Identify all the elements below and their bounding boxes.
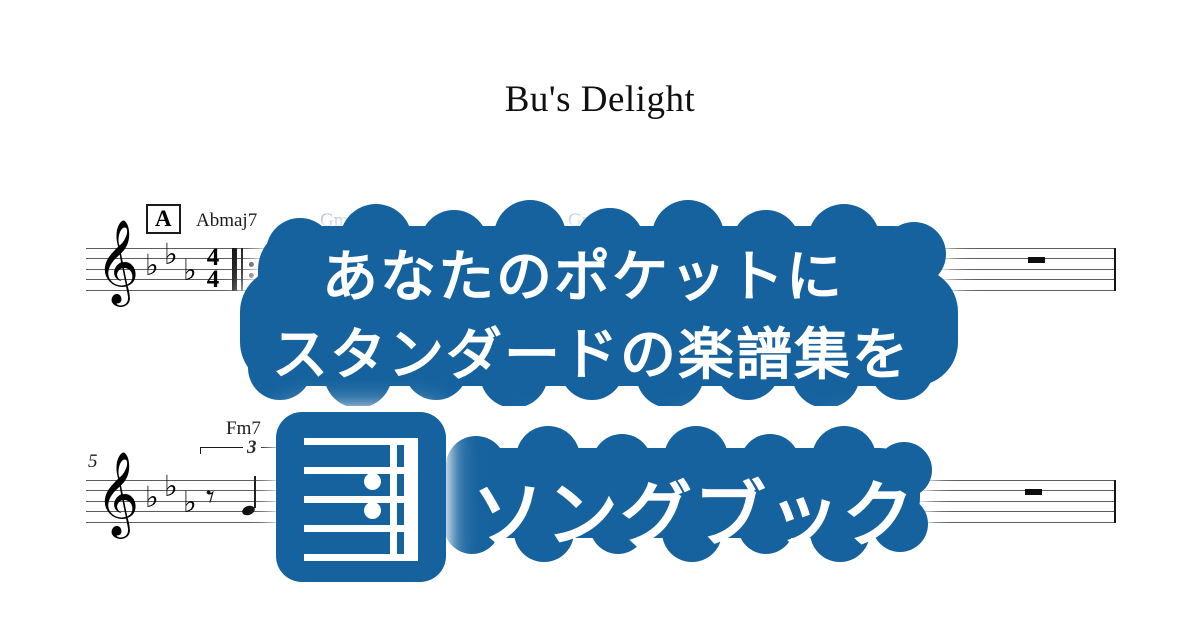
chord-symbol: Abmaj7	[196, 210, 257, 232]
repeat-dot	[249, 273, 254, 278]
quarter-rest: 𝄾	[206, 480, 215, 513]
staff-line	[86, 511, 1116, 512]
flat-icon: ♭	[145, 251, 159, 280]
page-title: Bu's Delight	[0, 78, 1200, 121]
logo-staff-line	[304, 525, 418, 532]
slur	[780, 246, 840, 262]
repeat-start-thin-barline	[241, 248, 243, 291]
flat-icon: ♭	[164, 472, 178, 501]
treble-clef-icon: 𝄞	[96, 225, 139, 298]
barline	[1114, 480, 1116, 523]
flat-icon: ♭	[164, 240, 178, 269]
repeat-start-thick-barline	[232, 248, 237, 291]
tuplet-number: 3	[243, 437, 261, 459]
chord-symbol: Gm7	[568, 210, 606, 232]
staff-lines-2	[86, 480, 1116, 522]
note-stem	[817, 276, 819, 302]
chord-symbol: Fm7	[226, 418, 261, 440]
logo-staff-line	[304, 467, 418, 474]
staff-line	[86, 522, 1116, 523]
chord-symbol: Bbm7	[458, 440, 504, 462]
repeat-dot	[249, 262, 254, 267]
overlay-line-2: スタンダードの楽譜集を	[272, 310, 910, 391]
logo-staff-line	[304, 554, 418, 561]
treble-clef-icon: 𝄞	[96, 457, 139, 530]
note-stem	[254, 476, 256, 508]
staff-line	[86, 501, 1116, 502]
flat-icon: ♭	[183, 256, 197, 285]
time-signature-denominator: 4	[203, 268, 223, 292]
barline	[1114, 248, 1116, 291]
chord-symbol: Gm7	[320, 210, 358, 232]
logo-staff-line	[304, 438, 418, 445]
whole-rest	[1028, 257, 1045, 263]
slur-curve	[780, 246, 840, 262]
flat-icon: ♭	[183, 488, 197, 517]
staff-line	[86, 490, 1116, 491]
songbook-banner: Bu's Delight 𝄞 ♭ ♭ ♭ 4 4 A Abmaj7 Gm7 Fm…	[0, 0, 1200, 630]
staff-line	[86, 480, 1116, 481]
rehearsal-mark: A	[146, 204, 181, 234]
flat-icon: ♭	[145, 483, 159, 512]
chord-symbol: Fm7	[437, 210, 472, 232]
whole-rest	[1025, 489, 1042, 495]
